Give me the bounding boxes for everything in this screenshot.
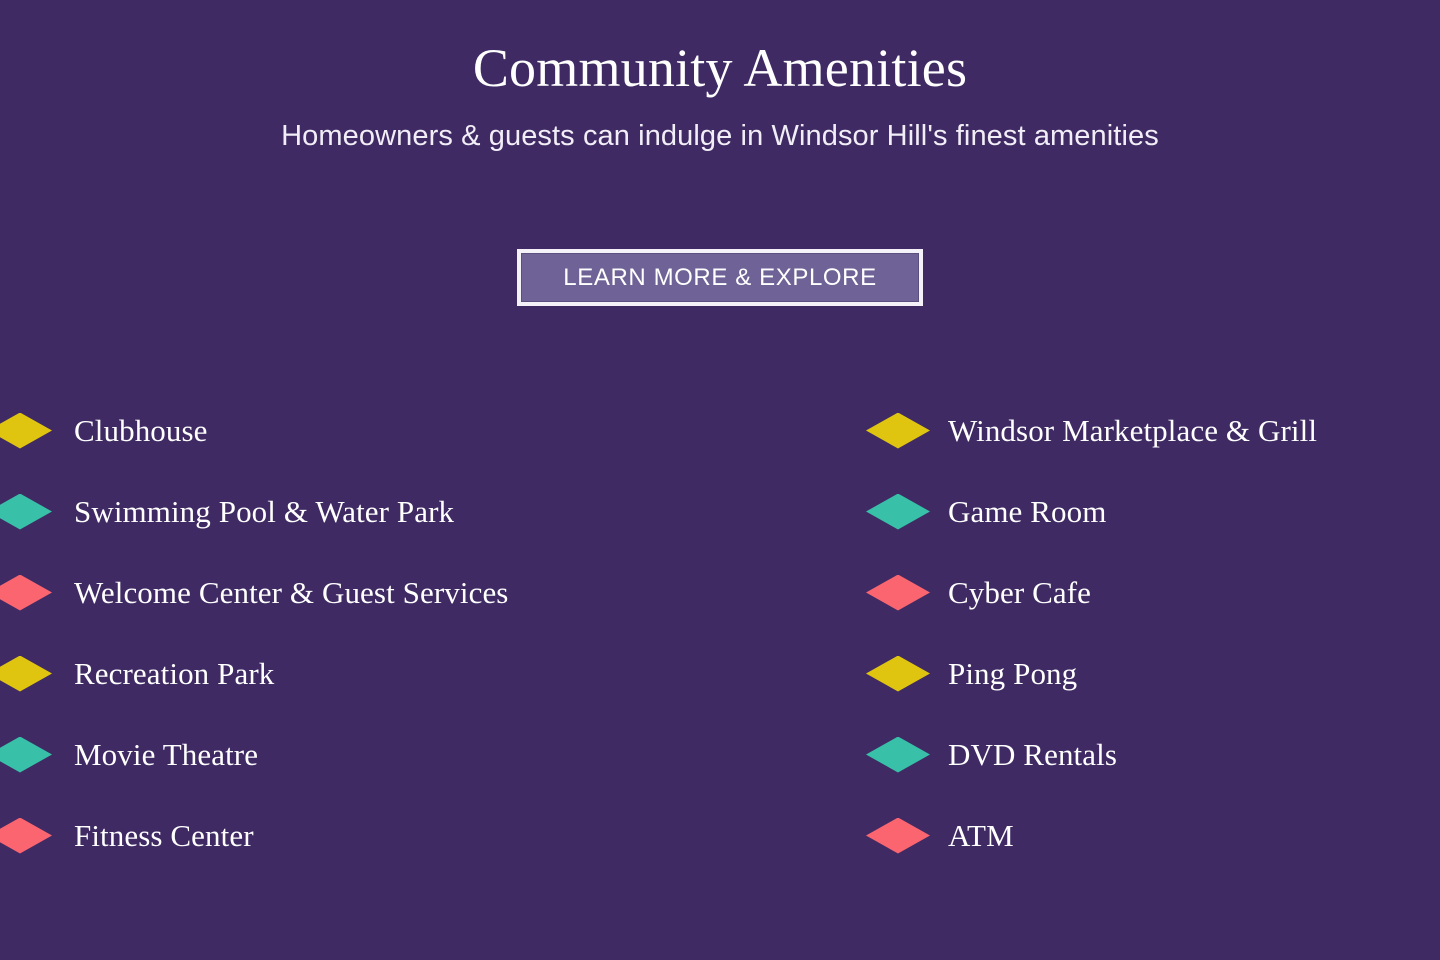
amenity-label: Clubhouse	[74, 415, 208, 446]
amenity-item: Ping Pong	[866, 633, 1440, 714]
diamond-icon	[866, 575, 930, 611]
amenities-left-column: ClubhouseSwimming Pool & Water ParkWelco…	[0, 390, 688, 890]
amenity-item: ATM	[866, 795, 1440, 876]
diamond-icon	[866, 413, 930, 449]
diamond-icon	[0, 737, 52, 773]
amenity-item: Movie Theatre	[0, 714, 688, 795]
page-title: Community Amenities	[0, 0, 1440, 97]
amenities-right-column: Windsor Marketplace & GrillGame RoomCybe…	[866, 390, 1440, 890]
amenity-label: Movie Theatre	[74, 739, 258, 770]
amenity-item: Welcome Center & Guest Services	[0, 552, 688, 633]
amenity-label: Game Room	[948, 496, 1106, 527]
amenity-item: Recreation Park	[0, 633, 688, 714]
diamond-icon	[866, 656, 930, 692]
diamond-icon	[866, 818, 930, 854]
amenity-item: Fitness Center	[0, 795, 688, 876]
amenity-label: Ping Pong	[948, 658, 1077, 689]
amenities-page: Community Amenities Homeowners & guests …	[0, 0, 1440, 960]
amenities-columns: ClubhouseSwimming Pool & Water ParkWelco…	[0, 390, 1440, 890]
amenity-label: Recreation Park	[74, 658, 274, 689]
amenity-label: Windsor Marketplace & Grill	[948, 415, 1317, 446]
page-header: Community Amenities Homeowners & guests …	[0, 0, 1440, 153]
amenity-label: DVD Rentals	[948, 739, 1117, 770]
diamond-icon	[866, 494, 930, 530]
amenity-label: Welcome Center & Guest Services	[74, 577, 508, 608]
learn-more-and-explore-button[interactable]: LEARN MORE & EXPLORE	[517, 249, 923, 306]
amenity-label: ATM	[948, 820, 1014, 851]
amenity-label: Cyber Cafe	[948, 577, 1091, 608]
diamond-icon	[0, 575, 52, 611]
page-subtitle: Homeowners & guests can indulge in Winds…	[0, 97, 1440, 154]
amenity-item: Game Room	[866, 471, 1440, 552]
diamond-icon	[0, 656, 52, 692]
amenity-item: Swimming Pool & Water Park	[0, 471, 688, 552]
amenity-item: DVD Rentals	[866, 714, 1440, 795]
amenity-item: Cyber Cafe	[866, 552, 1440, 633]
amenity-label: Swimming Pool & Water Park	[74, 496, 454, 527]
amenity-item: Windsor Marketplace & Grill	[866, 390, 1440, 471]
diamond-icon	[0, 818, 52, 854]
amenity-label: Fitness Center	[74, 820, 254, 851]
diamond-icon	[0, 413, 52, 449]
diamond-icon	[0, 494, 52, 530]
amenity-item: Clubhouse	[0, 390, 688, 471]
diamond-icon	[866, 737, 930, 773]
cta-container: LEARN MORE & EXPLORE	[0, 249, 1440, 306]
